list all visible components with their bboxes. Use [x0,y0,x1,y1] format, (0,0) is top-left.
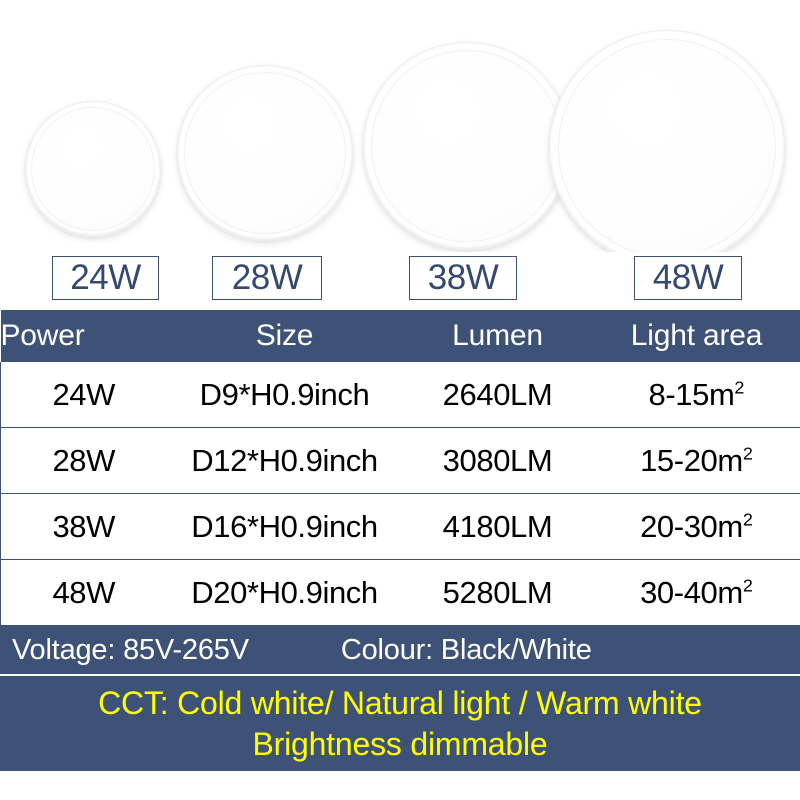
wattage-badge-row: 24W 28W 38W 48W [0,252,800,310]
cell-light-area-exponent: 2 [743,443,753,463]
table-row: 48W D20*H0.9inch 5280LM 30-40m2 [1,560,800,626]
voltage-colour-band: Voltage: 85V-265V Colour: Black/White [0,626,800,676]
cell-size: D12*H0.9inch [167,428,403,494]
cell-light-area-value: 15-20m [640,443,743,478]
wattage-badge-38w: 38W [409,256,517,300]
table-row: 28W D12*H0.9inch 3080LM 15-20m2 [1,428,800,494]
lamp-showcase [0,0,800,252]
colour-spec: Colour: Black/White [341,634,592,667]
cell-power: 24W [1,362,167,428]
cell-power: 28W [1,428,167,494]
specification-table: Power Size Lumen Light area 24W D9*H0.9i… [0,310,800,626]
column-header-power: Power [1,310,167,362]
cell-light-area: 15-20m2 [593,428,800,494]
column-header-light-area: Light area [593,310,800,362]
cell-size: D16*H0.9inch [167,494,403,560]
cell-light-area: 8-15m2 [593,362,800,428]
lamp-lens [558,39,776,257]
table-row: 24W D9*H0.9inch 2640LM 8-15m2 [1,362,800,428]
lamp-lens [31,107,155,231]
column-header-lumen: Lumen [403,310,593,362]
column-header-size: Size [167,310,403,362]
cell-light-area-value: 30-40m [640,575,743,610]
cell-size: D20*H0.9inch [167,560,403,626]
wattage-badge-28w: 28W [212,256,322,300]
wattage-badge-48w: 48W [634,256,742,300]
cell-lumen: 3080LM [403,428,593,494]
lamp-lens [184,72,346,234]
wattage-badge-24w: 24W [52,256,159,300]
lamp-lens [371,50,563,242]
lamp-image-24w [25,101,161,237]
dimmable-spec: Brightness dimmable [253,726,548,763]
lamp-image-38w [363,42,571,250]
cell-size: D9*H0.9inch [167,362,403,428]
lamp-image-28w [177,65,353,241]
cell-light-area: 30-40m2 [593,560,800,626]
cell-light-area-exponent: 2 [743,509,753,529]
cell-lumen: 2640LM [403,362,593,428]
cell-light-area: 20-30m2 [593,494,800,560]
cell-lumen: 5280LM [403,560,593,626]
cell-lumen: 4180LM [403,494,593,560]
table-header-row: Power Size Lumen Light area [1,310,800,362]
voltage-spec: Voltage: 85V-265V [12,634,249,667]
cell-power: 38W [1,494,167,560]
cell-light-area-exponent: 2 [743,575,753,595]
lamp-image-48w [549,30,785,266]
cct-band: CCT: Cold white/ Natural light / Warm wh… [0,676,800,771]
cell-power: 48W [1,560,167,626]
table-row: 38W D16*H0.9inch 4180LM 20-30m2 [1,494,800,560]
cell-light-area-value: 20-30m [640,509,743,544]
cell-light-area-value: 8-15m [649,377,735,412]
cct-spec: CCT: Cold white/ Natural light / Warm wh… [98,685,702,722]
cell-light-area-exponent: 2 [734,377,744,397]
